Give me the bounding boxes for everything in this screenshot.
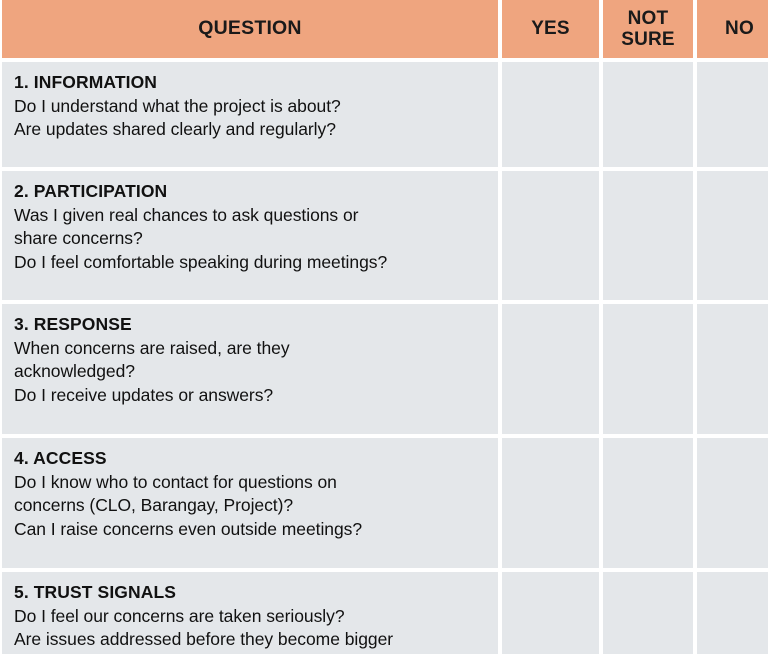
question-line-3-2: acknowledged? — [14, 360, 486, 383]
answer-cell-yes-5[interactable] — [502, 572, 599, 654]
checklist-sheet: QUESTION YES NOT SURE NO 1. INFORMATION … — [0, 0, 768, 650]
question-line-4-1: Do I know who to contact for questions o… — [14, 471, 486, 494]
answer-cell-yes-2[interactable] — [502, 171, 599, 300]
answer-cell-no-2[interactable] — [697, 171, 768, 300]
question-line-2-1: Was I given real chances to ask question… — [14, 204, 486, 227]
answer-cell-not-sure-4[interactable] — [603, 438, 693, 568]
answer-cell-no-4[interactable] — [697, 438, 768, 568]
question-title-1: 1. INFORMATION — [14, 71, 486, 94]
question-line-4-2: concerns (CLO, Barangay, Project)? — [14, 494, 486, 517]
table-row: 3. RESPONSE When concerns are raised, ar… — [2, 304, 768, 434]
column-header-no: NO — [697, 0, 768, 58]
question-cell-2: 2. PARTICIPATION Was I given real chance… — [2, 171, 498, 300]
question-line-3-1: When concerns are raised, are they — [14, 337, 486, 360]
question-line-1-2: Are updates shared clearly and regularly… — [14, 118, 486, 141]
question-title-5: 5. TRUST SIGNALS — [14, 581, 486, 604]
table-row: 1. INFORMATION Do I understand what the … — [2, 62, 768, 167]
header-row: QUESTION YES NOT SURE NO — [2, 0, 768, 58]
table-body: 1. INFORMATION Do I understand what the … — [2, 62, 768, 654]
answer-cell-not-sure-3[interactable] — [603, 304, 693, 434]
answer-cell-yes-3[interactable] — [502, 304, 599, 434]
question-cell-5: 5. TRUST SIGNALS Do I feel our concerns … — [2, 572, 498, 654]
answer-cell-not-sure-1[interactable] — [603, 62, 693, 167]
table-row: 5. TRUST SIGNALS Do I feel our concerns … — [2, 572, 768, 654]
question-cell-4: 4. ACCESS Do I know who to contact for q… — [2, 438, 498, 568]
question-title-2: 2. PARTICIPATION — [14, 180, 486, 203]
question-cell-1: 1. INFORMATION Do I understand what the … — [2, 62, 498, 167]
question-cell-3: 3. RESPONSE When concerns are raised, ar… — [2, 304, 498, 434]
question-line-1-1: Do I understand what the project is abou… — [14, 95, 486, 118]
answer-cell-not-sure-2[interactable] — [603, 171, 693, 300]
column-header-not-sure-line1: NOT — [628, 8, 669, 29]
answer-cell-not-sure-5[interactable] — [603, 572, 693, 654]
question-title-3: 3. RESPONSE — [14, 313, 486, 336]
question-line-4-3: Can I raise concerns even outside meetin… — [14, 518, 486, 541]
answer-cell-no-1[interactable] — [697, 62, 768, 167]
question-line-2-2: share concerns? — [14, 227, 486, 250]
answer-cell-no-5[interactable] — [697, 572, 768, 654]
question-title-4: 4. ACCESS — [14, 447, 486, 470]
answer-cell-no-3[interactable] — [697, 304, 768, 434]
column-header-question: QUESTION — [2, 0, 498, 58]
question-line-3-3: Do I receive updates or answers? — [14, 384, 486, 407]
answer-cell-yes-4[interactable] — [502, 438, 599, 568]
column-header-yes: YES — [502, 0, 599, 58]
table-row: 2. PARTICIPATION Was I given real chance… — [2, 171, 768, 300]
table-header: QUESTION YES NOT SURE NO — [2, 0, 768, 58]
question-line-2-3: Do I feel comfortable speaking during me… — [14, 251, 486, 274]
column-header-not-sure: NOT SURE — [603, 0, 693, 58]
feedback-checklist-table: QUESTION YES NOT SURE NO 1. INFORMATION … — [0, 0, 768, 654]
column-header-not-sure-line2: SURE — [621, 29, 675, 50]
table-row: 4. ACCESS Do I know who to contact for q… — [2, 438, 768, 568]
answer-cell-yes-1[interactable] — [502, 62, 599, 167]
question-line-5-1: Do I feel our concerns are taken serious… — [14, 605, 486, 628]
question-line-5-2: Are issues addressed before they become … — [14, 628, 486, 651]
